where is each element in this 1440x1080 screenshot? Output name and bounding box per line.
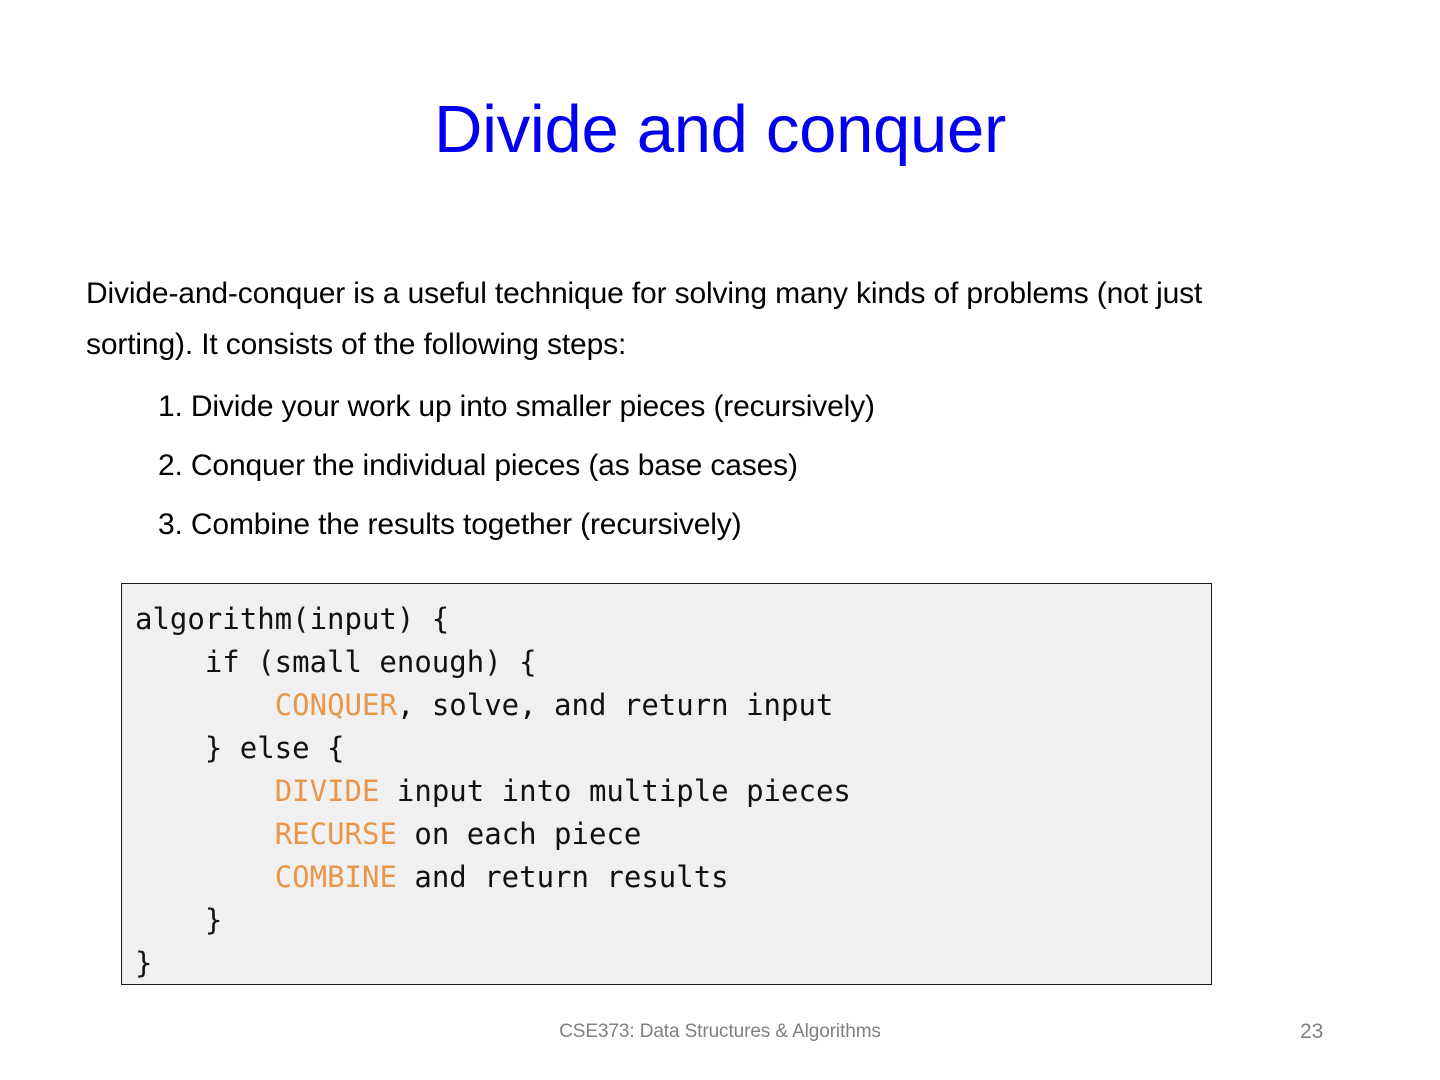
code-text: algorithm(input) { — [135, 602, 449, 636]
code-block: algorithm(input) { if (small enough) { C… — [121, 583, 1212, 985]
code-text: , solve, and return input — [397, 688, 834, 722]
page-title: Divide and conquer — [0, 92, 1440, 167]
code-keyword: DIVIDE — [275, 774, 380, 808]
code-text — [135, 774, 275, 808]
code-line: if (small enough) { — [135, 641, 1211, 684]
code-line: RECURSE on each piece — [135, 813, 1211, 856]
code-keyword: RECURSE — [275, 817, 397, 851]
code-text: on each piece — [397, 817, 641, 851]
code-text: } else { — [135, 731, 345, 765]
body-content: Divide-and-conquer is a useful technique… — [86, 268, 1286, 370]
code-text: and return results — [397, 860, 729, 894]
list-item: 3. Combine the results together (recursi… — [158, 495, 1338, 554]
footer-page-number: 23 — [1300, 1019, 1390, 1045]
code-text — [135, 860, 275, 894]
code-text: if (small enough) { — [135, 645, 537, 679]
code-text: input into multiple pieces — [379, 774, 850, 808]
footer-course-label: CSE373: Data Structures & Algorithms — [0, 1019, 1440, 1045]
code-line: } — [135, 942, 1211, 985]
code-line: } else { — [135, 727, 1211, 770]
list-item: 2. Conquer the individual pieces (as bas… — [158, 436, 1338, 495]
code-line: CONQUER, solve, and return input — [135, 684, 1211, 727]
code-block-content: algorithm(input) { if (small enough) { C… — [135, 598, 1211, 985]
code-text: } — [135, 946, 152, 980]
code-line: DIVIDE input into multiple pieces — [135, 770, 1211, 813]
numbered-step-list: 1. Divide your work up into smaller piec… — [158, 377, 1338, 554]
intro-paragraph: Divide-and-conquer is a useful technique… — [86, 268, 1286, 370]
code-text — [135, 688, 275, 722]
code-text — [135, 817, 275, 851]
code-text: } — [135, 903, 222, 937]
code-line: algorithm(input) { — [135, 598, 1211, 641]
slide-canvas: Divide and conquer Divide-and-conquer is… — [0, 0, 1440, 1080]
code-line: } — [135, 899, 1211, 942]
code-line: COMBINE and return results — [135, 856, 1211, 899]
code-keyword: COMBINE — [275, 860, 397, 894]
code-keyword: CONQUER — [275, 688, 397, 722]
list-item: 1. Divide your work up into smaller piec… — [158, 377, 1338, 436]
